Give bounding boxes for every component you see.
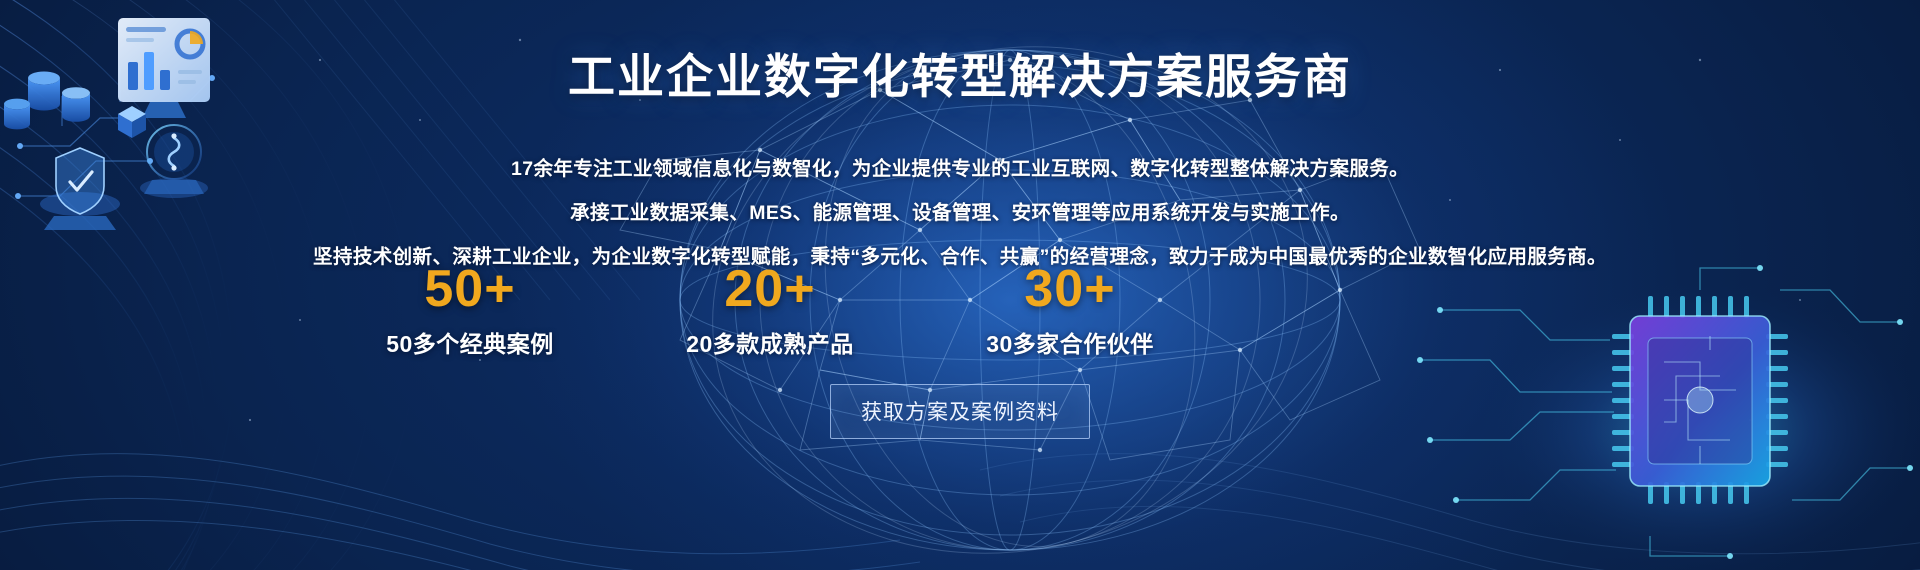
- subtitle-line-1: 17余年专注工业领域信息化与数智化，为企业提供专业的工业互联网、数字化转型整体解…: [0, 152, 1920, 181]
- stats-group: 50+ 50多个经典案例 20+ 20多款成熟产品 30+ 30多家合作伙伴: [330, 262, 1210, 359]
- stat-number-products: 20+: [630, 262, 910, 317]
- subtitle-line-2: 承接工业数据采集、MES、能源管理、设备管理、安环管理等应用系统开发与实施工作。: [0, 196, 1920, 225]
- page-title: 工业企业数字化转型解决方案服务商: [0, 38, 1920, 107]
- get-materials-button[interactable]: 获取方案及案例资料: [830, 384, 1090, 439]
- stat-number-partners: 30+: [930, 262, 1210, 317]
- stat-item-partners: 30+ 30多家合作伙伴: [930, 262, 1210, 359]
- stat-item-cases: 50+ 50多个经典案例: [330, 262, 610, 359]
- stat-label-products: 20多款成熟产品: [630, 325, 910, 359]
- stat-label-partners: 30多家合作伙伴: [930, 325, 1210, 359]
- stat-item-products: 20+ 20多款成熟产品: [630, 262, 910, 359]
- stat-label-cases: 50多个经典案例: [330, 325, 610, 359]
- stat-number-cases: 50+: [330, 262, 610, 317]
- hero-banner: 工业企业数字化转型解决方案服务商 17余年专注工业领域信息化与数智化，为企业提供…: [0, 0, 1920, 570]
